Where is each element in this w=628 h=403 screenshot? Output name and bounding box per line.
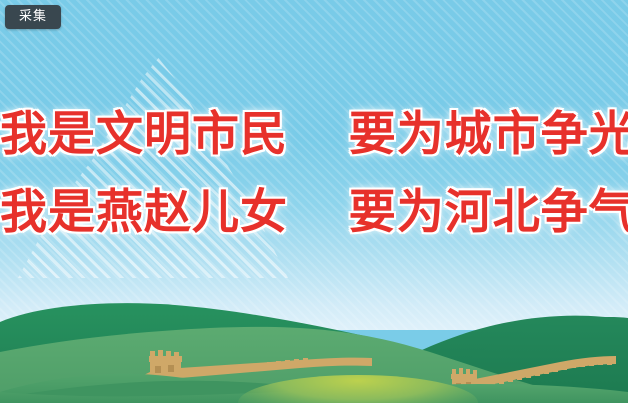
slogan-line-1-right: 要为城市争光 xyxy=(349,107,628,162)
slogan-line-2-right: 要为河北争气 xyxy=(349,185,628,240)
slogan-banner: 我是文明市民 要为城市争光 我是燕赵儿女 要为河北争气 xyxy=(0,96,628,252)
slogan-line-1-left: 我是文明市民 xyxy=(0,107,288,162)
banner-screenshot: 采集 我是文明市民 要为城市争光 我是燕赵儿女 要为河北争气 xyxy=(0,0,628,403)
capture-button[interactable]: 采集 xyxy=(5,5,61,29)
slogan-line-2: 我是燕赵儿女 要为河北争气 xyxy=(0,174,628,252)
slogan-line-1: 我是文明市民 要为城市争光 xyxy=(0,96,628,174)
slogan-line-2-left: 我是燕赵儿女 xyxy=(0,185,288,240)
